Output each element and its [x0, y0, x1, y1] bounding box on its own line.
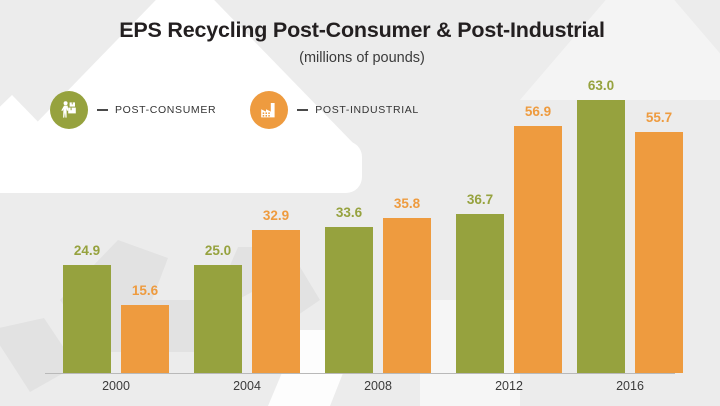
bar-2016-post-consumer[interactable] [577, 100, 625, 373]
x-tick-label-2004: 2004 [194, 379, 300, 393]
bar-2000-post-consumer[interactable] [63, 265, 111, 373]
plot-area: 24.915.625.032.933.635.836.756.963.055.7… [0, 0, 720, 406]
bar-value-label: 56.9 [525, 104, 551, 119]
bar-2008-post-consumer[interactable] [325, 227, 373, 373]
bar-2016-post-industrial[interactable] [635, 132, 683, 373]
x-tick-label-2012: 2012 [456, 379, 562, 393]
bar-value-label: 63.0 [588, 78, 614, 93]
x-axis-line [45, 373, 675, 374]
x-tick-label-2008: 2008 [325, 379, 431, 393]
bar-2000-post-industrial[interactable] [121, 305, 169, 373]
bar-value-label: 35.8 [394, 196, 420, 211]
bar-2004-post-consumer[interactable] [194, 265, 242, 373]
x-tick-label-2000: 2000 [63, 379, 169, 393]
bar-2004-post-industrial[interactable] [252, 230, 300, 373]
bar-value-label: 55.7 [646, 110, 672, 125]
bar-2012-post-industrial[interactable] [514, 126, 562, 373]
bar-value-label: 36.7 [467, 192, 493, 207]
bar-value-label: 33.6 [336, 205, 362, 220]
bar-value-label: 25.0 [205, 243, 231, 258]
bar-value-label: 15.6 [132, 283, 158, 298]
bar-value-label: 24.9 [74, 243, 100, 258]
bar-2008-post-industrial[interactable] [383, 218, 431, 373]
x-tick-label-2016: 2016 [577, 379, 683, 393]
bar-2012-post-consumer[interactable] [456, 214, 504, 373]
bar-value-label: 32.9 [263, 208, 289, 223]
chart-canvas: EPS Recycling Post-Consumer & Post-Indus… [0, 0, 720, 406]
